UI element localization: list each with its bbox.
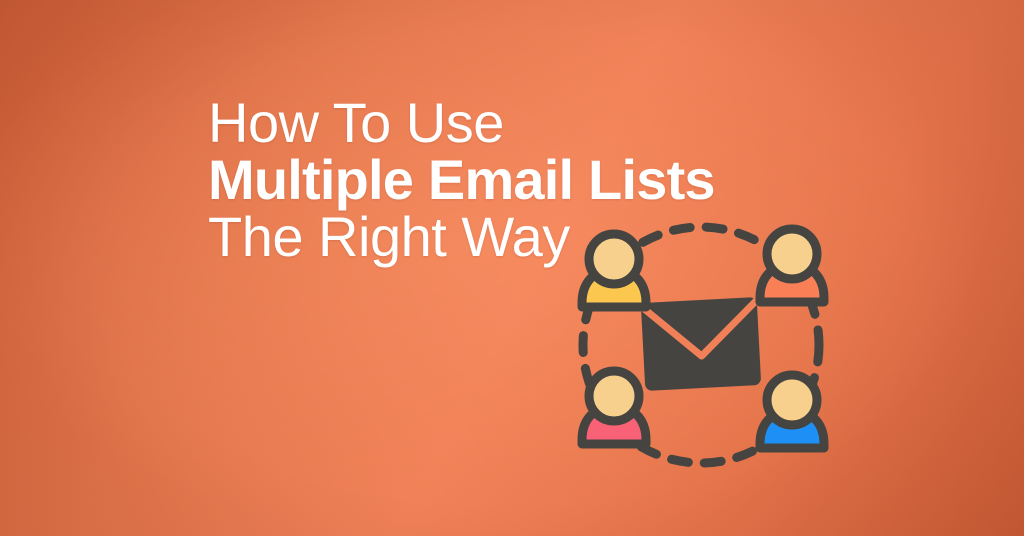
title-line-2: Multiple Email Lists bbox=[208, 153, 768, 208]
title-line-1: How To Use bbox=[208, 96, 768, 151]
background-vignette bbox=[0, 0, 1024, 536]
person-icon-top-right bbox=[760, 229, 824, 302]
email-network-illustration bbox=[556, 204, 846, 489]
person-icon-bottom-left bbox=[582, 371, 646, 444]
envelope-icon bbox=[641, 297, 761, 391]
person-icon-top-left bbox=[582, 234, 646, 307]
banner-canvas: How To Use Multiple Email Lists The Righ… bbox=[0, 0, 1024, 536]
person-icon-bottom-right bbox=[760, 375, 824, 448]
